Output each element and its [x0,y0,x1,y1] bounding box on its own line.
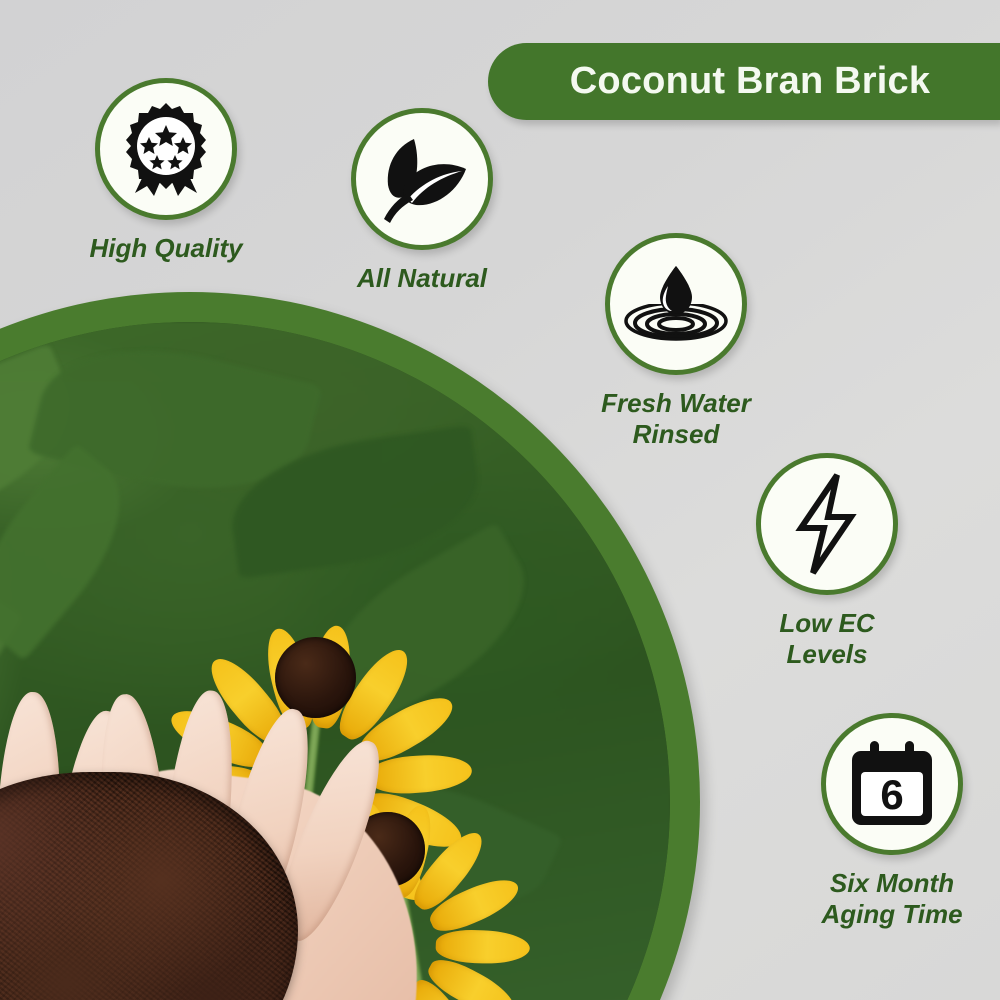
badge-circle [605,233,747,375]
badge-circle: 6 [821,713,963,855]
badge-circle [351,108,493,250]
feature-all-natural[interactable]: All Natural [322,108,522,294]
feature-label: Low EC Levels [779,608,874,669]
leaves-icon [374,133,470,225]
product-title-banner: Coconut Bran Brick [488,43,1000,120]
feature-high-quality[interactable]: High Quality [66,78,266,264]
calendar-icon: 6 [846,738,938,830]
badge-circle [756,453,898,595]
lightning-bolt-icon [791,472,863,576]
water-drop-ripple-icon [624,264,728,344]
badge-circle [95,78,237,220]
page-title: Coconut Bran Brick [552,60,936,103]
award-rosette-icon [121,101,211,197]
feature-six-month-aging-time[interactable]: 6 Six Month Aging Time [782,713,1000,929]
feature-label: Fresh Water Rinsed [601,388,751,449]
feature-label: High Quality [89,233,242,264]
feature-low-ec-levels[interactable]: Low EC Levels [727,453,927,669]
calendar-number: 6 [880,771,903,818]
feature-label: Six Month Aging Time [821,868,962,929]
feature-label: All Natural [357,263,487,294]
product-infographic: Coconut Bran Brick [0,0,1000,1000]
feature-fresh-water-rinsed[interactable]: Fresh Water Rinsed [566,233,786,449]
